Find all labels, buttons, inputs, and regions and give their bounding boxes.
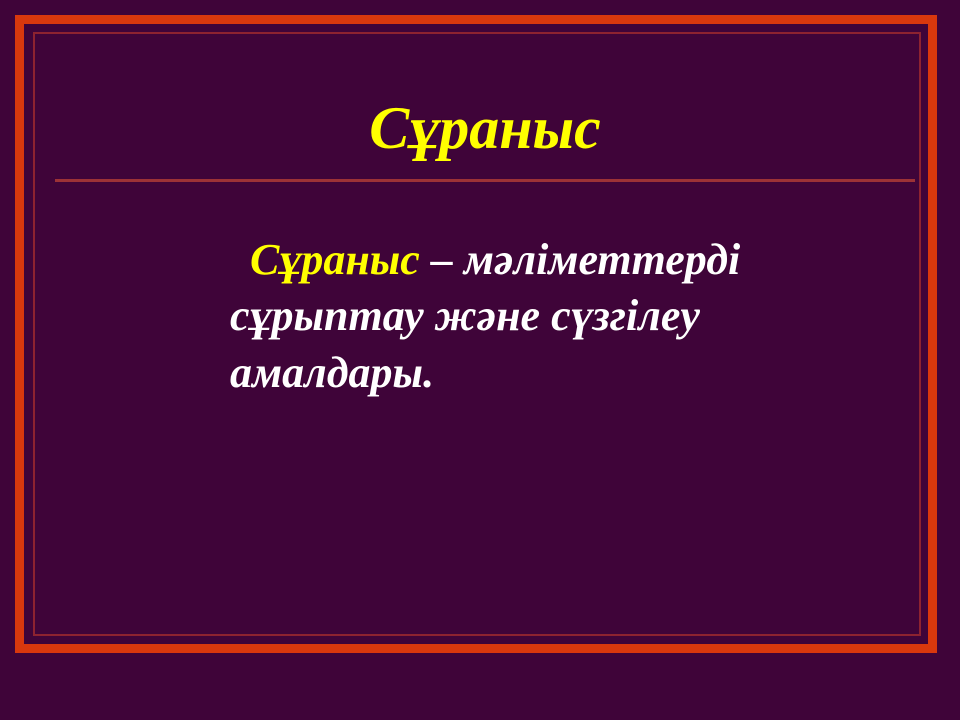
title-placeholder: Сұраныс: [55, 78, 915, 178]
body-paragraph: Сұраныс – мәліметтерді сұрыптау және сүз…: [230, 232, 895, 401]
title-divider: [55, 179, 915, 182]
slide-canvas: Сұраныс Сұраныс – мәліметтерді сұрыптау …: [0, 0, 960, 720]
accent-term: Сұраныс: [250, 235, 420, 284]
body-placeholder: Сұраныс – мәліметтерді сұрыптау және сүз…: [230, 232, 895, 401]
page-title: Сұраныс: [369, 98, 601, 158]
